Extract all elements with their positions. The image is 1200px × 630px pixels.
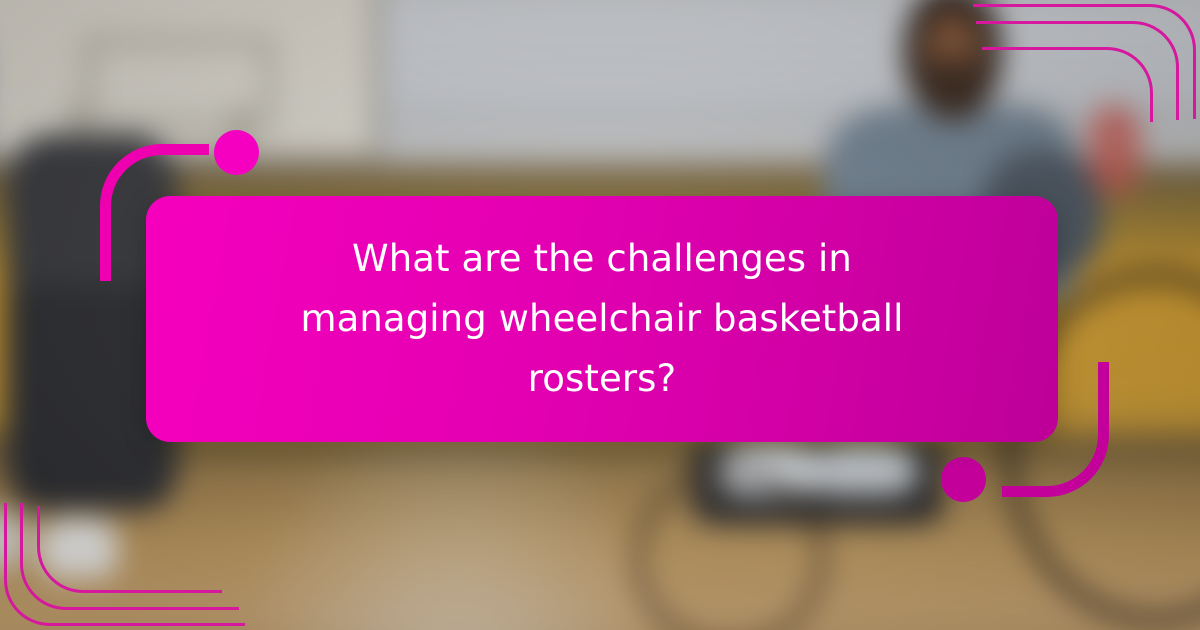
question-text: What are the challenges in managing whee…: [257, 229, 947, 409]
social-card-canvas: What are the challenges in managing whee…: [0, 0, 1200, 630]
question-card: What are the challenges in managing whee…: [146, 196, 1058, 442]
